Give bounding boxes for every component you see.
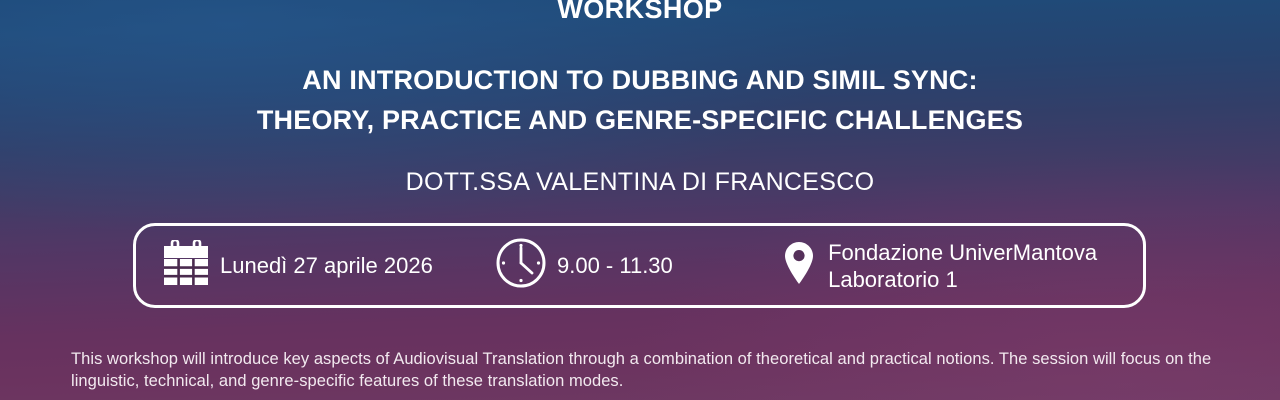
calendar-icon bbox=[162, 240, 210, 291]
clock-icon bbox=[495, 237, 547, 294]
speaker-name: DOTT.SSA VALENTINA DI FRANCESCO bbox=[0, 166, 1280, 198]
workshop-poster: WORKSHOP AN INTRODUCTION TO DUBBING AND … bbox=[0, 0, 1280, 400]
event-location-line-1: Fondazione UniverMantova bbox=[828, 239, 1097, 266]
workshop-description: This workshop will introduce key aspects… bbox=[71, 348, 1216, 392]
event-time: 9.00 - 11.30 bbox=[495, 237, 784, 294]
event-time-text: 9.00 - 11.30 bbox=[557, 252, 673, 279]
poster-kicker: WORKSHOP bbox=[0, 0, 1280, 26]
poster-title: AN INTRODUCTION TO DUBBING AND SIMIL SYN… bbox=[0, 60, 1280, 140]
poster-title-line-2: THEORY, PRACTICE AND GENRE-SPECIFIC CHAL… bbox=[0, 100, 1280, 140]
event-location: Fondazione UniverMantova Laboratorio 1 bbox=[784, 239, 1143, 293]
event-location-text: Fondazione UniverMantova Laboratorio 1 bbox=[828, 239, 1097, 293]
event-date-text: Lunedì 27 aprile 2026 bbox=[220, 252, 433, 279]
event-location-line-2: Laboratorio 1 bbox=[828, 266, 1097, 293]
poster-title-line-1: AN INTRODUCTION TO DUBBING AND SIMIL SYN… bbox=[0, 60, 1280, 100]
event-details-box: Lunedì 27 aprile 2026 9.00 - 11.30 bbox=[133, 223, 1146, 308]
event-date: Lunedì 27 aprile 2026 bbox=[136, 240, 495, 291]
map-pin-icon bbox=[784, 241, 814, 290]
